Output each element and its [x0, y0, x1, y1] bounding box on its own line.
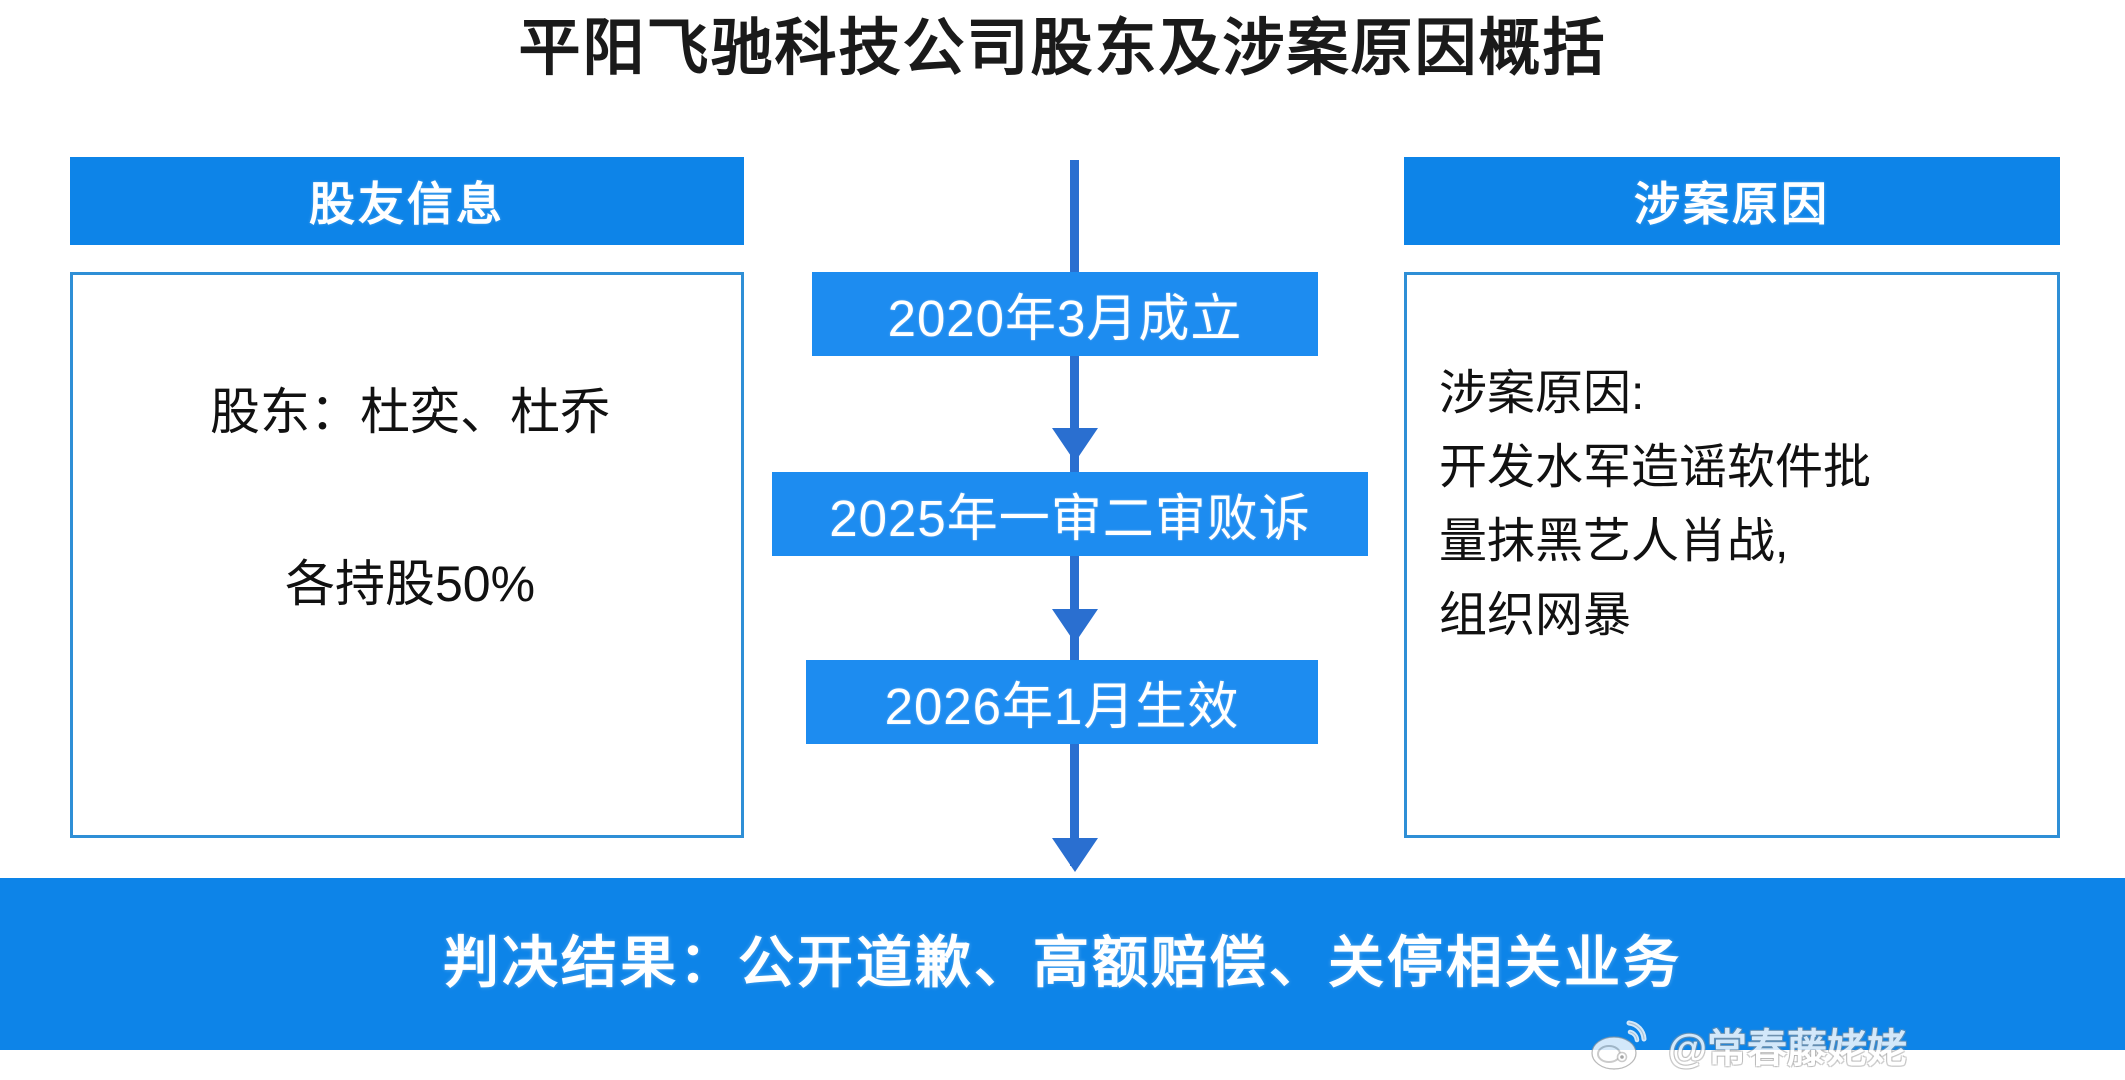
- watermark-handle: @常春藤姥姥: [1668, 1016, 1907, 1074]
- case-reason-line-3: 量抹黑艺人肖战,: [1439, 505, 2039, 579]
- case-reason-line-2: 开发水军造谣软件批: [1439, 431, 2039, 505]
- case-reason-line-1: 涉案原因:: [1439, 357, 2039, 431]
- left-column-body: 股东：杜奕、杜乔 各持股50%: [70, 272, 744, 838]
- case-reason-text: 涉案原因: 开发水军造谣软件批 量抹黑艺人肖战, 组织网暴: [1439, 357, 2039, 653]
- right-column-header: 涉案原因: [1404, 157, 2060, 245]
- timeline-step-2: 2025年一审二审败诉: [772, 472, 1368, 556]
- case-reason-line-4: 组织网暴: [1439, 579, 2039, 653]
- arrow-down-icon: [1052, 428, 1098, 462]
- infographic-canvas: 平阳飞驰科技公司股东及涉案原因概括 股友信息 股东：杜奕、杜乔 各持股50% 2…: [0, 0, 2125, 1080]
- timeline-step-1: 2020年3月成立: [812, 272, 1318, 356]
- watermark: @常春藤姥姥: [1588, 1016, 1907, 1074]
- arrow-down-icon: [1052, 838, 1098, 872]
- verdict-text: 判决结果：公开道歉、高额赔偿、关停相关业务: [443, 918, 1682, 999]
- timeline-step-3: 2026年1月生效: [806, 660, 1318, 744]
- shareholders-line: 股东：杜奕、杜乔: [73, 381, 747, 443]
- page-title: 平阳飞驰科技公司股东及涉案原因概括: [0, 6, 2125, 92]
- shareholding-line: 各持股50%: [73, 553, 747, 615]
- left-column-header: 股友信息: [70, 157, 744, 245]
- weibo-logo-icon: [1588, 1017, 1654, 1073]
- arrow-down-icon: [1052, 609, 1098, 643]
- right-column-body: 涉案原因: 开发水军造谣软件批 量抹黑艺人肖战, 组织网暴: [1404, 272, 2060, 838]
